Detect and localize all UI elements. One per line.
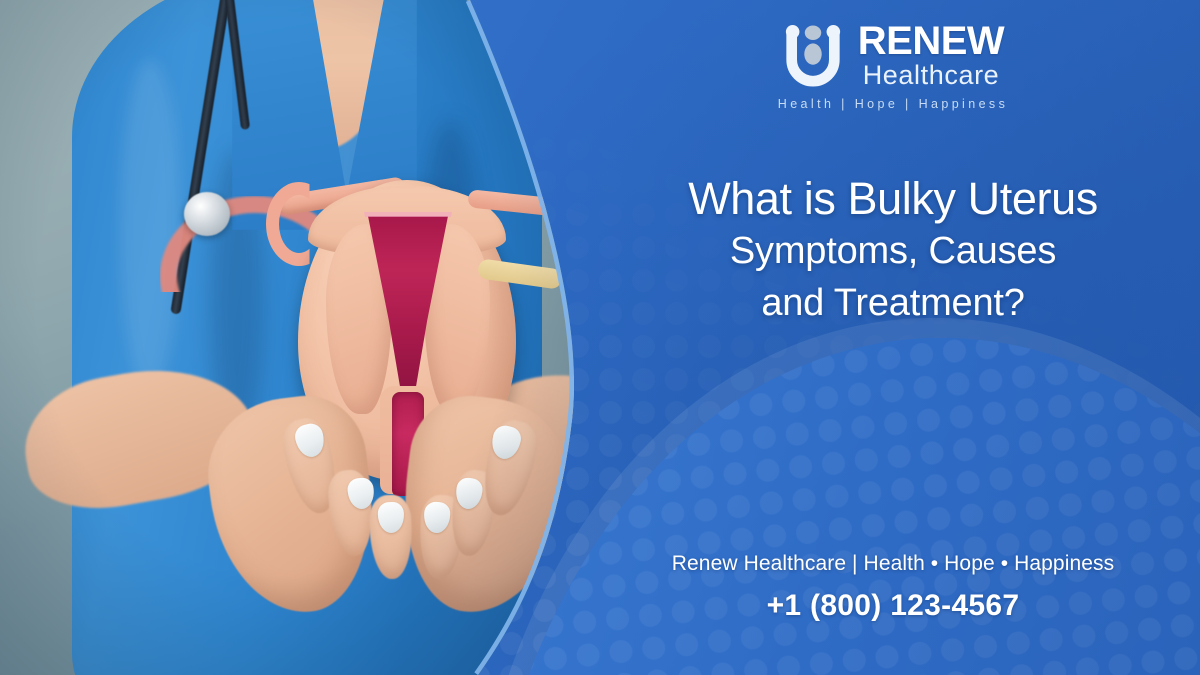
page-title: What is Bulky Uterus Symptoms, Causes an…	[586, 172, 1200, 329]
headline-line-1: What is Bulky Uterus	[586, 172, 1200, 225]
footer-phone-number[interactable]: +1 (800) 123-4567	[586, 589, 1200, 623]
logo-row: RENEW Healthcare	[782, 22, 1004, 90]
footer-tagline: Renew Healthcare | Health • Hope • Happi…	[586, 552, 1200, 576]
promotional-banner: RENEW Healthcare Health | Hope | Happine…	[0, 0, 1200, 675]
hero-photo	[0, 0, 600, 675]
logo-name-primary: RENEW	[858, 22, 1004, 61]
headline-line-2: Symptoms, Causes	[586, 225, 1200, 278]
logo-name-secondary: Healthcare	[863, 60, 1000, 90]
photo-backdrop	[0, 0, 600, 675]
brand-logo[interactable]: RENEW Healthcare Health | Hope | Happine…	[586, 22, 1200, 111]
renew-u-people-logo-icon	[782, 25, 844, 87]
logo-tagline: Health | Hope | Happiness	[778, 97, 1008, 111]
photo-vignette	[0, 0, 600, 675]
headline-line-3: and Treatment?	[586, 278, 1200, 329]
footer-contact: Renew Healthcare | Health • Hope • Happi…	[586, 552, 1200, 623]
content-column: RENEW Healthcare Health | Hope | Happine…	[586, 0, 1200, 675]
logo-wordmark: RENEW Healthcare	[858, 22, 1004, 90]
